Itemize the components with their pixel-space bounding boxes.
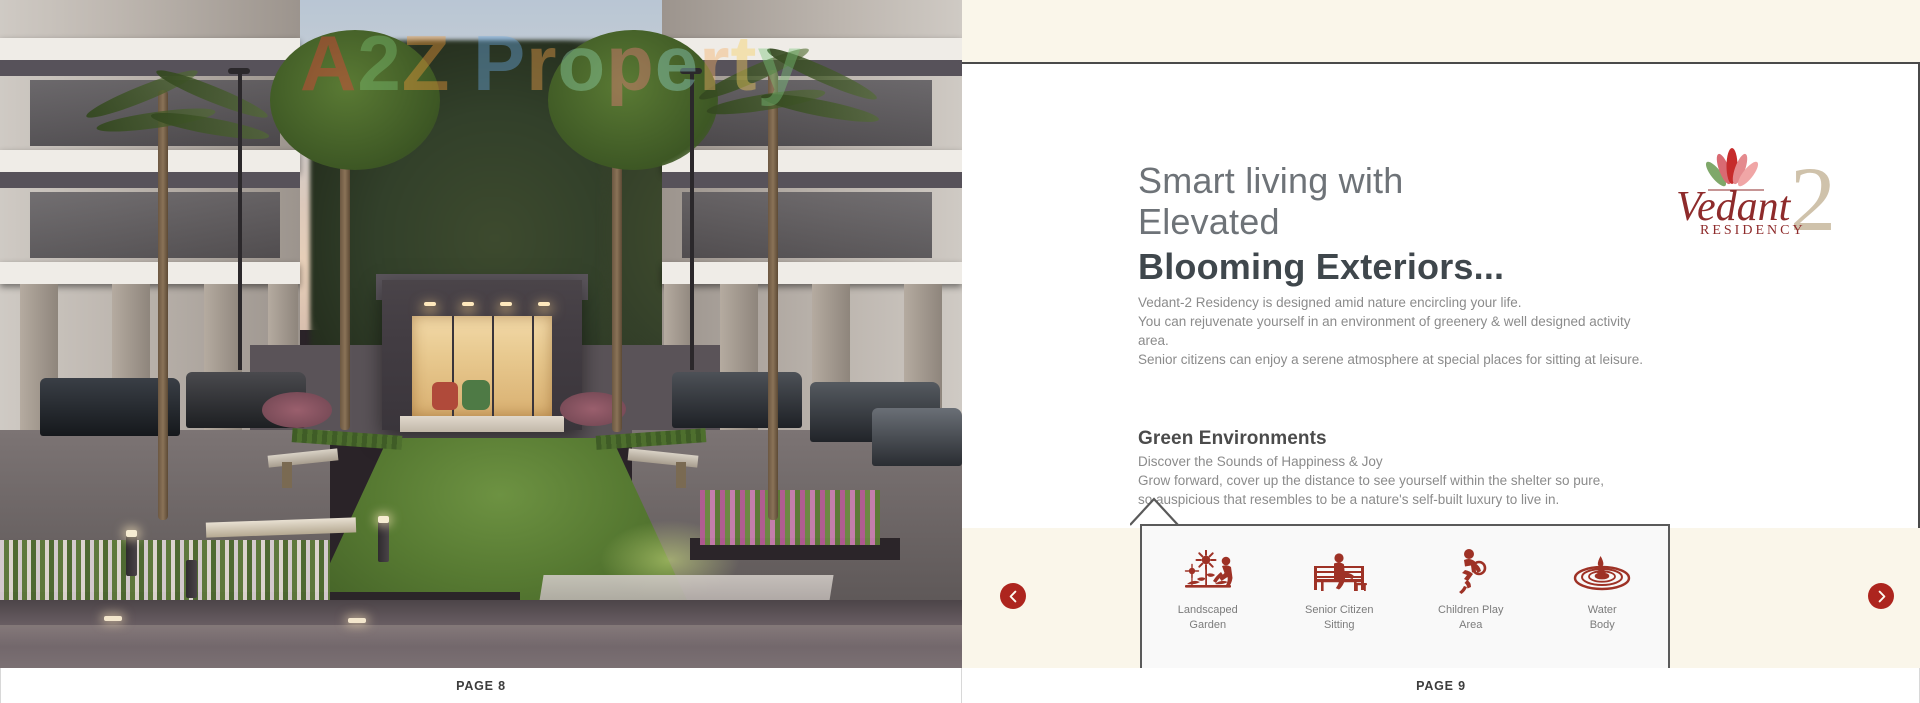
amenity-label: Water Body	[1588, 603, 1617, 633]
water-body-icon	[1573, 542, 1631, 594]
green-body-line-1: Discover the Sounds of Happiness & Joy	[1138, 453, 1658, 472]
floor-slab	[0, 38, 300, 60]
green-environments-section: Green Environments Discover the Sounds o…	[1138, 428, 1658, 510]
landscaped-garden-icon	[1181, 542, 1235, 594]
page-footer: PAGE 8 PAGE 9	[0, 668, 1920, 703]
amenity-label-line-2: Garden	[1189, 619, 1226, 631]
page-label-right: PAGE 9	[962, 668, 1920, 703]
bench-leg	[282, 462, 292, 488]
parked-car	[872, 408, 962, 466]
bollard-lamp-glow	[126, 530, 137, 537]
chevron-right-icon	[1875, 590, 1888, 603]
bollard-lamp-glow	[378, 516, 389, 523]
floor-slab	[662, 150, 962, 172]
tree-canopy	[270, 30, 440, 170]
floor-slab	[662, 38, 962, 60]
headline-line-3: Blooming Exteriors...	[1138, 245, 1608, 288]
fascia-band	[662, 172, 962, 188]
ceiling-spotlight	[462, 302, 474, 306]
palm-trunk	[158, 90, 168, 520]
amenity-label-line-2: Area	[1459, 619, 1482, 631]
lead-line-2: You can rejuvenate yourself in an enviro…	[1138, 312, 1658, 350]
children-play-area-icon	[1454, 542, 1488, 594]
lamp-post	[690, 70, 694, 370]
floor-slab	[0, 150, 300, 172]
green-environments-title: Green Environments	[1138, 428, 1658, 450]
amenity-label-line-1: Senior Citizen	[1305, 604, 1373, 616]
green-environments-body: Discover the Sounds of Happiness & Joy G…	[1138, 453, 1658, 510]
amenity-water-body[interactable]: Water Body	[1537, 542, 1669, 668]
entry-step	[400, 416, 564, 432]
senior-citizen-sitting-icon	[1309, 542, 1369, 594]
logo-subtitle: RESIDENCY	[1700, 223, 1806, 238]
lead-line-3: Senior citizens can enjoy a serene atmos…	[1138, 350, 1658, 369]
amenity-senior-citizen-sitting[interactable]: Senior Citizen Sitting	[1274, 542, 1406, 668]
ceiling-spotlight	[538, 302, 550, 306]
logo-artwork: 2 Vedant RESIDENCY	[1672, 148, 1872, 238]
lotus-flower-icon	[1703, 148, 1761, 189]
green-body-line-2: Grow forward, cover up the distance to s…	[1138, 472, 1658, 491]
vedant-2-residency-logo: 2 Vedant RESIDENCY	[1672, 148, 1872, 238]
amenity-label: Landscaped Garden	[1178, 603, 1238, 633]
ornamental-shrub	[262, 392, 332, 428]
headline-line-1: Smart living with	[1138, 160, 1608, 201]
fascia-band	[0, 60, 300, 76]
headline-line-2: Elevated	[1138, 201, 1608, 242]
next-page-button[interactable]	[1868, 583, 1894, 609]
palm-trunk	[768, 70, 778, 520]
lead-line-1: Vedant-2 Residency is designed amid natu…	[1138, 293, 1658, 312]
amenities-strip: Landscaped Garden	[1140, 524, 1670, 668]
interior-furniture	[432, 382, 458, 410]
parked-car	[672, 372, 802, 428]
bench-leg	[676, 462, 686, 488]
paving-reflection	[0, 625, 962, 647]
amenity-landscaped-garden[interactable]: Landscaped Garden	[1142, 542, 1274, 668]
ceiling-spotlight	[500, 302, 512, 306]
lamp-head	[228, 68, 250, 74]
brochure-viewer: A2Z Property Smart living with Elevated …	[0, 0, 1920, 703]
ceiling-spotlight	[424, 302, 436, 306]
glass-band	[30, 192, 280, 258]
flower-bed-left	[0, 540, 330, 602]
strip-pointer-notch	[1130, 497, 1200, 527]
floor-slab	[0, 262, 300, 284]
green-body-line-3: so auspicious that resembles to be a nat…	[1138, 491, 1658, 510]
lead-paragraph: Vedant-2 Residency is designed amid natu…	[1138, 293, 1658, 370]
amenity-label: Senior Citizen Sitting	[1305, 603, 1373, 633]
amenity-children-play-area[interactable]: Children Play Area	[1405, 542, 1537, 668]
lamp-head	[680, 68, 702, 74]
amenity-label-line-2: Body	[1590, 619, 1615, 631]
fascia-band	[0, 172, 300, 188]
amenity-label-line-2: Sitting	[1324, 619, 1355, 631]
interior-planter	[462, 380, 490, 410]
glass-band	[682, 192, 932, 258]
floor-slab	[662, 262, 962, 284]
amenity-label-line-1: Water	[1588, 604, 1617, 616]
amenity-label-line-1: Children Play	[1438, 604, 1503, 616]
amenity-label-line-1: Landscaped	[1178, 604, 1238, 616]
amenity-label: Children Play Area	[1438, 603, 1503, 633]
left-page-image[interactable]: A2Z Property	[0, 0, 962, 668]
ground-light	[348, 618, 366, 623]
page-headline: Smart living with Elevated Blooming Exte…	[1138, 160, 1608, 288]
flower-bed-right	[700, 490, 880, 545]
chevron-left-icon	[1007, 590, 1020, 603]
ground-light	[104, 616, 122, 621]
previous-page-button[interactable]	[1000, 583, 1026, 609]
window-mullion	[492, 316, 494, 416]
lamp-post	[238, 70, 242, 370]
window-mullion	[532, 316, 534, 416]
page-label-left: PAGE 8	[0, 668, 962, 703]
bollard-light	[186, 560, 197, 598]
